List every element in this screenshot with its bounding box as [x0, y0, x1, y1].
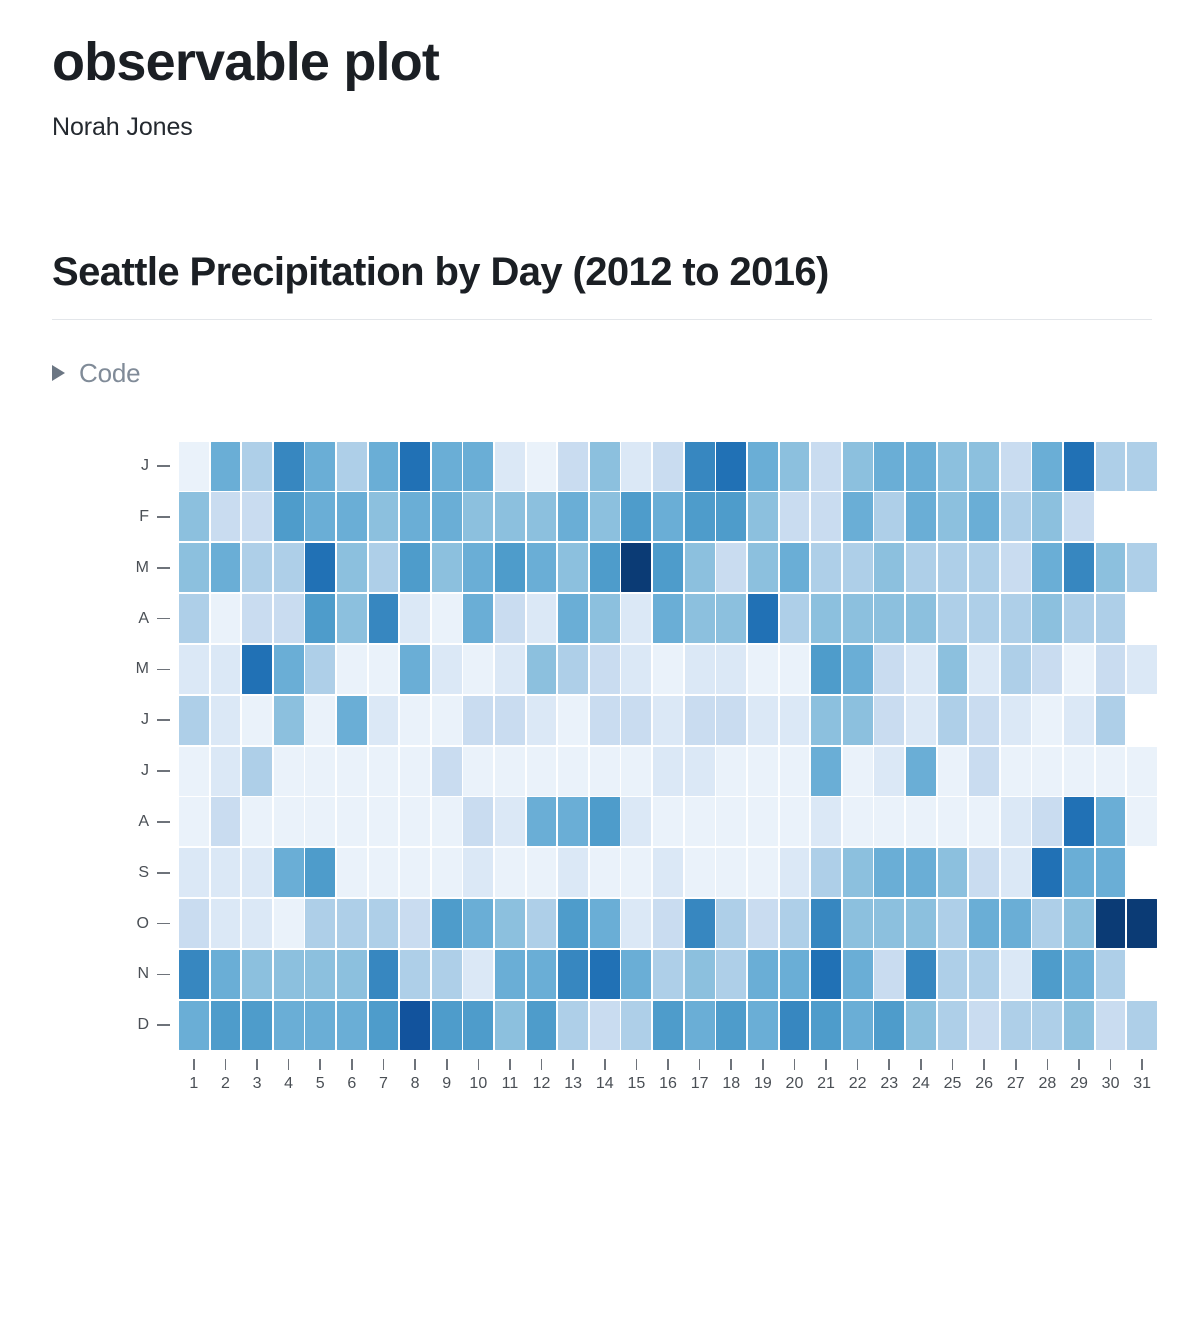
- heatmap-cell[interactable]: [938, 797, 968, 846]
- heatmap-cell[interactable]: [748, 747, 778, 796]
- heatmap-cell[interactable]: [906, 594, 936, 643]
- heatmap-cell[interactable]: [1064, 442, 1094, 491]
- heatmap-cell[interactable]: [1096, 442, 1126, 491]
- heatmap-cell[interactable]: [305, 1001, 335, 1050]
- heatmap-cell[interactable]: [1001, 899, 1031, 948]
- heatmap-cell[interactable]: [527, 848, 557, 897]
- heatmap-cell[interactable]: [1064, 797, 1094, 846]
- heatmap-cell[interactable]: [811, 543, 841, 592]
- heatmap-cell[interactable]: [305, 747, 335, 796]
- heatmap-cell[interactable]: [274, 492, 304, 541]
- heatmap-cell[interactable]: [1001, 1001, 1031, 1050]
- heatmap-cell[interactable]: [621, 747, 651, 796]
- heatmap-cell[interactable]: [685, 594, 715, 643]
- heatmap-cell[interactable]: [274, 594, 304, 643]
- heatmap-cell[interactable]: [685, 1001, 715, 1050]
- heatmap-cell[interactable]: [369, 747, 399, 796]
- heatmap-cell[interactable]: [432, 747, 462, 796]
- heatmap-cell[interactable]: [1127, 950, 1157, 999]
- heatmap-cell[interactable]: [969, 747, 999, 796]
- heatmap-cell[interactable]: [1096, 899, 1126, 948]
- heatmap-cell[interactable]: [748, 899, 778, 948]
- heatmap-cell[interactable]: [369, 797, 399, 846]
- heatmap-cell[interactable]: [969, 442, 999, 491]
- heatmap-cell[interactable]: [211, 543, 241, 592]
- heatmap-cell[interactable]: [242, 594, 272, 643]
- heatmap-cell[interactable]: [590, 848, 620, 897]
- heatmap-cell[interactable]: [527, 797, 557, 846]
- heatmap-cell[interactable]: [527, 696, 557, 745]
- heatmap-cell[interactable]: [748, 950, 778, 999]
- heatmap-cell[interactable]: [495, 1001, 525, 1050]
- heatmap-cell[interactable]: [1064, 645, 1094, 694]
- heatmap-cell[interactable]: [432, 950, 462, 999]
- heatmap-cell[interactable]: [843, 442, 873, 491]
- heatmap-cell[interactable]: [843, 492, 873, 541]
- heatmap-cell[interactable]: [527, 543, 557, 592]
- heatmap-cell[interactable]: [400, 848, 430, 897]
- heatmap-cell[interactable]: [369, 848, 399, 897]
- heatmap-cell[interactable]: [1032, 848, 1062, 897]
- heatmap-cell[interactable]: [369, 1001, 399, 1050]
- heatmap-cell[interactable]: [558, 950, 588, 999]
- heatmap-cell[interactable]: [1064, 696, 1094, 745]
- heatmap-cell[interactable]: [653, 594, 683, 643]
- heatmap-cell[interactable]: [1032, 543, 1062, 592]
- heatmap-cell[interactable]: [400, 899, 430, 948]
- heatmap-cell[interactable]: [558, 543, 588, 592]
- heatmap-cell[interactable]: [463, 696, 493, 745]
- heatmap-cell[interactable]: [179, 645, 209, 694]
- heatmap-cell[interactable]: [716, 950, 746, 999]
- heatmap-cell[interactable]: [527, 1001, 557, 1050]
- heatmap-cell[interactable]: [1127, 797, 1157, 846]
- heatmap-cell[interactable]: [938, 899, 968, 948]
- heatmap-cell[interactable]: [242, 848, 272, 897]
- heatmap-cell[interactable]: [242, 645, 272, 694]
- heatmap-cell[interactable]: [1032, 696, 1062, 745]
- heatmap-cell[interactable]: [558, 442, 588, 491]
- heatmap-cell[interactable]: [527, 950, 557, 999]
- heatmap-cell[interactable]: [211, 645, 241, 694]
- heatmap-cell[interactable]: [906, 492, 936, 541]
- heatmap-cell[interactable]: [558, 848, 588, 897]
- heatmap-cell[interactable]: [527, 492, 557, 541]
- heatmap-cell[interactable]: [1127, 492, 1157, 541]
- heatmap-cell[interactable]: [906, 747, 936, 796]
- heatmap-cell[interactable]: [906, 696, 936, 745]
- heatmap-cell[interactable]: [1096, 543, 1126, 592]
- heatmap-cell[interactable]: [748, 848, 778, 897]
- heatmap-cell[interactable]: [590, 747, 620, 796]
- heatmap-cell[interactable]: [811, 848, 841, 897]
- heatmap-cell[interactable]: [558, 594, 588, 643]
- heatmap-cell[interactable]: [495, 442, 525, 491]
- heatmap-cell[interactable]: [780, 492, 810, 541]
- heatmap-cell[interactable]: [337, 696, 367, 745]
- heatmap-cell[interactable]: [1001, 442, 1031, 491]
- heatmap-cell[interactable]: [621, 848, 651, 897]
- heatmap-cell[interactable]: [369, 645, 399, 694]
- heatmap-cell[interactable]: [938, 950, 968, 999]
- heatmap-cell[interactable]: [337, 543, 367, 592]
- heatmap-cell[interactable]: [179, 848, 209, 897]
- heatmap-cell[interactable]: [1001, 950, 1031, 999]
- heatmap-cell[interactable]: [843, 645, 873, 694]
- heatmap-cell[interactable]: [274, 950, 304, 999]
- heatmap-cell[interactable]: [969, 492, 999, 541]
- heatmap-cell[interactable]: [1001, 492, 1031, 541]
- heatmap-cell[interactable]: [369, 492, 399, 541]
- heatmap-cell[interactable]: [1096, 492, 1126, 541]
- heatmap-cell[interactable]: [242, 899, 272, 948]
- heatmap-cell[interactable]: [211, 848, 241, 897]
- heatmap-cell[interactable]: [969, 899, 999, 948]
- heatmap-cell[interactable]: [495, 696, 525, 745]
- code-disclosure-toggle[interactable]: Code: [52, 320, 140, 389]
- heatmap-cell[interactable]: [748, 492, 778, 541]
- heatmap-cell[interactable]: [305, 696, 335, 745]
- heatmap-cell[interactable]: [811, 747, 841, 796]
- heatmap-cell[interactable]: [748, 645, 778, 694]
- heatmap-cell[interactable]: [685, 696, 715, 745]
- heatmap-cell[interactable]: [495, 492, 525, 541]
- heatmap-cell[interactable]: [685, 899, 715, 948]
- heatmap-cell[interactable]: [1127, 899, 1157, 948]
- heatmap-cell[interactable]: [590, 645, 620, 694]
- heatmap-cell[interactable]: [495, 747, 525, 796]
- heatmap-cell[interactable]: [211, 747, 241, 796]
- heatmap-cell[interactable]: [1001, 543, 1031, 592]
- heatmap-cell[interactable]: [1001, 848, 1031, 897]
- heatmap-cell[interactable]: [242, 797, 272, 846]
- heatmap-cell[interactable]: [811, 594, 841, 643]
- heatmap-cell[interactable]: [621, 492, 651, 541]
- heatmap-cell[interactable]: [748, 797, 778, 846]
- heatmap-cell[interactable]: [274, 1001, 304, 1050]
- heatmap-cell[interactable]: [242, 543, 272, 592]
- heatmap-cell[interactable]: [843, 747, 873, 796]
- heatmap-cell[interactable]: [621, 696, 651, 745]
- heatmap-cell[interactable]: [369, 899, 399, 948]
- heatmap-cell[interactable]: [938, 848, 968, 897]
- heatmap-cell[interactable]: [400, 950, 430, 999]
- heatmap-cell[interactable]: [463, 492, 493, 541]
- heatmap-cell[interactable]: [906, 1001, 936, 1050]
- heatmap-cell[interactable]: [874, 492, 904, 541]
- heatmap-cell[interactable]: [874, 1001, 904, 1050]
- heatmap-cell[interactable]: [938, 543, 968, 592]
- heatmap-cell[interactable]: [179, 1001, 209, 1050]
- heatmap-cell[interactable]: [1001, 645, 1031, 694]
- heatmap-cell[interactable]: [1032, 1001, 1062, 1050]
- heatmap-cell[interactable]: [906, 543, 936, 592]
- heatmap-cell[interactable]: [653, 645, 683, 694]
- heatmap-cell[interactable]: [969, 797, 999, 846]
- heatmap-cell[interactable]: [242, 950, 272, 999]
- heatmap-cell[interactable]: [811, 797, 841, 846]
- heatmap-cell[interactable]: [400, 594, 430, 643]
- heatmap-cell[interactable]: [621, 797, 651, 846]
- heatmap-cell[interactable]: [400, 797, 430, 846]
- heatmap-cell[interactable]: [906, 848, 936, 897]
- heatmap-cell[interactable]: [179, 696, 209, 745]
- heatmap-cell[interactable]: [969, 696, 999, 745]
- heatmap-cell[interactable]: [716, 645, 746, 694]
- heatmap-cell[interactable]: [590, 696, 620, 745]
- heatmap-cell[interactable]: [874, 645, 904, 694]
- heatmap-cell[interactable]: [432, 899, 462, 948]
- heatmap-cell[interactable]: [211, 899, 241, 948]
- heatmap-cell[interactable]: [653, 442, 683, 491]
- heatmap-cell[interactable]: [653, 543, 683, 592]
- heatmap-cell[interactable]: [400, 696, 430, 745]
- heatmap-cell[interactable]: [211, 594, 241, 643]
- heatmap-cell[interactable]: [463, 848, 493, 897]
- heatmap-cell[interactable]: [843, 1001, 873, 1050]
- heatmap-cell[interactable]: [1096, 645, 1126, 694]
- heatmap-cell[interactable]: [369, 594, 399, 643]
- heatmap-cell[interactable]: [305, 848, 335, 897]
- heatmap-cell[interactable]: [527, 899, 557, 948]
- heatmap-cell[interactable]: [432, 442, 462, 491]
- heatmap-cell[interactable]: [716, 848, 746, 897]
- heatmap-cell[interactable]: [780, 950, 810, 999]
- heatmap-cell[interactable]: [179, 492, 209, 541]
- heatmap-cell[interactable]: [780, 696, 810, 745]
- heatmap-cell[interactable]: [874, 797, 904, 846]
- heatmap-cell[interactable]: [1127, 645, 1157, 694]
- heatmap-cell[interactable]: [337, 950, 367, 999]
- heatmap-cell[interactable]: [400, 1001, 430, 1050]
- heatmap-cell[interactable]: [621, 594, 651, 643]
- heatmap-cell[interactable]: [938, 696, 968, 745]
- heatmap-cell[interactable]: [1032, 747, 1062, 796]
- heatmap-cell[interactable]: [495, 594, 525, 643]
- heatmap-cell[interactable]: [590, 950, 620, 999]
- heatmap-cell[interactable]: [653, 747, 683, 796]
- heatmap-cell[interactable]: [337, 492, 367, 541]
- heatmap-cell[interactable]: [495, 950, 525, 999]
- heatmap-cell[interactable]: [716, 747, 746, 796]
- heatmap-cell[interactable]: [780, 645, 810, 694]
- heatmap-cell[interactable]: [369, 696, 399, 745]
- heatmap-cell[interactable]: [1096, 797, 1126, 846]
- heatmap-cell[interactable]: [211, 492, 241, 541]
- heatmap-cell[interactable]: [400, 543, 430, 592]
- heatmap-cell[interactable]: [495, 848, 525, 897]
- heatmap-cell[interactable]: [463, 797, 493, 846]
- heatmap-cell[interactable]: [432, 848, 462, 897]
- heatmap-cell[interactable]: [843, 797, 873, 846]
- heatmap-cell[interactable]: [274, 797, 304, 846]
- heatmap-cell[interactable]: [969, 543, 999, 592]
- heatmap-cell[interactable]: [337, 1001, 367, 1050]
- heatmap-cell[interactable]: [558, 645, 588, 694]
- heatmap-cell[interactable]: [843, 543, 873, 592]
- heatmap-cell[interactable]: [590, 543, 620, 592]
- heatmap-cell[interactable]: [1001, 797, 1031, 846]
- heatmap-cell[interactable]: [748, 543, 778, 592]
- heatmap-cell[interactable]: [811, 442, 841, 491]
- heatmap-cell[interactable]: [685, 492, 715, 541]
- heatmap-cell[interactable]: [274, 442, 304, 491]
- heatmap-cell[interactable]: [621, 645, 651, 694]
- heatmap-cell[interactable]: [1064, 594, 1094, 643]
- heatmap-cell[interactable]: [305, 797, 335, 846]
- heatmap-cell[interactable]: [811, 492, 841, 541]
- heatmap-cell[interactable]: [1032, 950, 1062, 999]
- heatmap-cell[interactable]: [811, 696, 841, 745]
- heatmap-cell[interactable]: [716, 492, 746, 541]
- heatmap-cell[interactable]: [716, 797, 746, 846]
- heatmap-cell[interactable]: [969, 848, 999, 897]
- heatmap-cell[interactable]: [874, 848, 904, 897]
- heatmap-cell[interactable]: [463, 543, 493, 592]
- heatmap-cell[interactable]: [653, 696, 683, 745]
- heatmap-cell[interactable]: [1064, 1001, 1094, 1050]
- heatmap-cell[interactable]: [527, 645, 557, 694]
- heatmap-cell[interactable]: [685, 645, 715, 694]
- heatmap-cell[interactable]: [590, 899, 620, 948]
- heatmap-cell[interactable]: [1032, 492, 1062, 541]
- heatmap-cell[interactable]: [811, 950, 841, 999]
- heatmap-cell[interactable]: [969, 645, 999, 694]
- heatmap-cell[interactable]: [369, 543, 399, 592]
- heatmap-cell[interactable]: [211, 797, 241, 846]
- heatmap-cell[interactable]: [1064, 950, 1094, 999]
- heatmap-cell[interactable]: [179, 543, 209, 592]
- heatmap-cell[interactable]: [843, 594, 873, 643]
- heatmap-cell[interactable]: [1127, 1001, 1157, 1050]
- heatmap-cell[interactable]: [242, 492, 272, 541]
- heatmap-cell[interactable]: [969, 950, 999, 999]
- heatmap-cell[interactable]: [1096, 950, 1126, 999]
- heatmap-cell[interactable]: [874, 899, 904, 948]
- heatmap-cell[interactable]: [621, 442, 651, 491]
- heatmap-cell[interactable]: [621, 950, 651, 999]
- heatmap-cell[interactable]: [748, 696, 778, 745]
- heatmap-cell[interactable]: [653, 848, 683, 897]
- heatmap-cell[interactable]: [938, 492, 968, 541]
- heatmap-cell[interactable]: [242, 747, 272, 796]
- heatmap-cell[interactable]: [211, 442, 241, 491]
- heatmap-cell[interactable]: [653, 797, 683, 846]
- heatmap-cell[interactable]: [874, 594, 904, 643]
- heatmap-cell[interactable]: [242, 696, 272, 745]
- heatmap-cell[interactable]: [305, 492, 335, 541]
- heatmap-cell[interactable]: [242, 1001, 272, 1050]
- heatmap-cell[interactable]: [242, 442, 272, 491]
- heatmap-cell[interactable]: [1001, 594, 1031, 643]
- heatmap-cell[interactable]: [1127, 747, 1157, 796]
- heatmap-cell[interactable]: [463, 899, 493, 948]
- heatmap-cell[interactable]: [590, 442, 620, 491]
- heatmap-cell[interactable]: [527, 594, 557, 643]
- heatmap-cell[interactable]: [716, 594, 746, 643]
- heatmap-cell[interactable]: [179, 899, 209, 948]
- heatmap-cell[interactable]: [527, 747, 557, 796]
- heatmap-cell[interactable]: [874, 543, 904, 592]
- heatmap-cell[interactable]: [874, 950, 904, 999]
- heatmap-cell[interactable]: [463, 950, 493, 999]
- heatmap-cell[interactable]: [495, 645, 525, 694]
- heatmap-cell[interactable]: [1127, 696, 1157, 745]
- heatmap-cell[interactable]: [1096, 696, 1126, 745]
- heatmap-cell[interactable]: [1001, 747, 1031, 796]
- heatmap-cell[interactable]: [463, 747, 493, 796]
- heatmap-cell[interactable]: [780, 543, 810, 592]
- heatmap-cell[interactable]: [938, 442, 968, 491]
- heatmap-cell[interactable]: [432, 594, 462, 643]
- heatmap-cell[interactable]: [1001, 696, 1031, 745]
- heatmap-cell[interactable]: [274, 899, 304, 948]
- heatmap-cell[interactable]: [653, 492, 683, 541]
- heatmap-cell[interactable]: [305, 442, 335, 491]
- heatmap-cell[interactable]: [969, 594, 999, 643]
- heatmap-cell[interactable]: [653, 1001, 683, 1050]
- heatmap-cell[interactable]: [685, 747, 715, 796]
- heatmap-cell[interactable]: [938, 747, 968, 796]
- heatmap-cell[interactable]: [938, 594, 968, 643]
- heatmap-cell[interactable]: [1096, 848, 1126, 897]
- heatmap-cell[interactable]: [179, 950, 209, 999]
- heatmap-cell[interactable]: [337, 645, 367, 694]
- heatmap-cell[interactable]: [274, 747, 304, 796]
- heatmap-cell[interactable]: [685, 950, 715, 999]
- heatmap-cell[interactable]: [1064, 848, 1094, 897]
- heatmap-cell[interactable]: [463, 1001, 493, 1050]
- heatmap-cell[interactable]: [1127, 543, 1157, 592]
- heatmap-cell[interactable]: [495, 797, 525, 846]
- heatmap-cell[interactable]: [621, 543, 651, 592]
- heatmap-cell[interactable]: [179, 797, 209, 846]
- heatmap-cell[interactable]: [463, 442, 493, 491]
- heatmap-cell[interactable]: [716, 442, 746, 491]
- heatmap-cell[interactable]: [906, 645, 936, 694]
- heatmap-cell[interactable]: [274, 543, 304, 592]
- heatmap-cell[interactable]: [811, 899, 841, 948]
- heatmap-cell[interactable]: [621, 1001, 651, 1050]
- heatmap-cell[interactable]: [432, 492, 462, 541]
- heatmap-cell[interactable]: [1064, 543, 1094, 592]
- heatmap-cell[interactable]: [906, 797, 936, 846]
- heatmap-cell[interactable]: [780, 848, 810, 897]
- heatmap-cell[interactable]: [558, 797, 588, 846]
- heatmap-cell[interactable]: [811, 645, 841, 694]
- heatmap-cell[interactable]: [274, 848, 304, 897]
- heatmap-cell[interactable]: [685, 442, 715, 491]
- heatmap-cell[interactable]: [432, 1001, 462, 1050]
- heatmap-cell[interactable]: [369, 442, 399, 491]
- heatmap-cell[interactable]: [653, 950, 683, 999]
- heatmap-cell[interactable]: [716, 1001, 746, 1050]
- heatmap-cell[interactable]: [432, 797, 462, 846]
- heatmap-cell[interactable]: [874, 747, 904, 796]
- heatmap-cell[interactable]: [590, 1001, 620, 1050]
- heatmap-cell[interactable]: [1127, 442, 1157, 491]
- heatmap-cell[interactable]: [1096, 594, 1126, 643]
- heatmap-cell[interactable]: [780, 899, 810, 948]
- heatmap-cell[interactable]: [400, 645, 430, 694]
- heatmap-cell[interactable]: [1127, 594, 1157, 643]
- heatmap-cell[interactable]: [843, 848, 873, 897]
- heatmap-cell[interactable]: [432, 645, 462, 694]
- heatmap-cell[interactable]: [716, 899, 746, 948]
- heatmap-cell[interactable]: [274, 696, 304, 745]
- heatmap-cell[interactable]: [1096, 1001, 1126, 1050]
- heatmap-cell[interactable]: [938, 645, 968, 694]
